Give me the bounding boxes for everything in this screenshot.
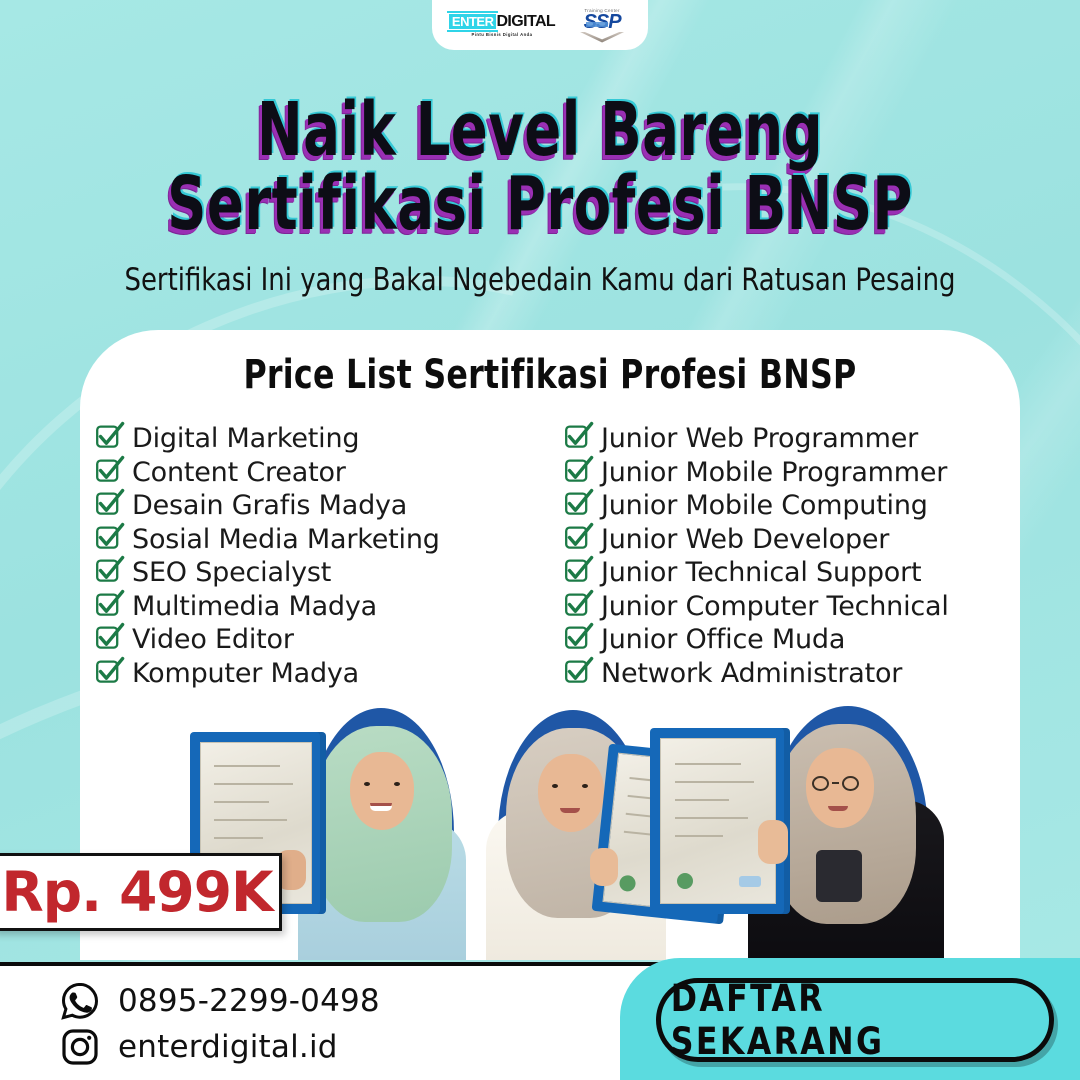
checkmark-icon [94,593,121,620]
poster-canvas: ENTER DIGITAL Pintu Bisnis Digital Anda … [0,0,1080,1080]
whatsapp-contact[interactable]: 0895-2299-0498 [60,978,380,1024]
checkmark-icon [563,526,590,553]
list-item: Komputer Madya [94,657,553,691]
glasses-bridge-3 [832,782,839,784]
list-item-label: Video Editor [132,624,294,655]
eye-right-1 [394,782,400,786]
list-item: Content Creator [94,456,553,490]
checkmark-icon [94,459,121,486]
face-1 [350,752,414,830]
cert-stamp [739,876,761,887]
logo-bar: ENTER DIGITAL Pintu Bisnis Digital Anda … [432,0,648,50]
list-item-label: Sosial Media Marketing [132,524,440,555]
list-item-label: Content Creator [132,457,346,488]
list-item: Junior Web Programmer [563,422,1012,456]
service-list-right: Junior Web Programmer Junior Mobile Prog… [553,422,1012,690]
cta-panel: DAFTAR SEKARANG [620,958,1080,1080]
list-item: Junior Web Developer [563,523,1012,557]
mouth-1 [370,806,392,811]
list-item-label: Junior Technical Support [601,557,921,588]
headline-line-2: Sertifikasi Profesi BNSP [97,170,983,238]
logo-enter-text: ENTER [449,14,497,29]
logo-tagline: Pintu Bisnis Digital Anda [472,32,533,37]
eye-right-2 [582,784,588,788]
contact-block: 0895-2299-0498 enterdigital.id [60,978,380,1070]
list-item: Sosial Media Marketing [94,523,553,557]
card-title: Price List Sertifikasi Profesi BNSP [136,352,963,398]
ssp-accent-bar [586,22,608,27]
list-item: Junior Technical Support [563,556,1012,590]
mouth-2 [560,808,580,813]
checkmark-icon [563,593,590,620]
glasses-right-3 [842,776,859,791]
checkmark-icon [563,492,590,519]
list-item: Junior Mobile Programmer [563,456,1012,490]
cert-line [214,765,280,767]
list-item: Video Editor [94,623,553,657]
headline-line-1: Naik Level Bareng [97,96,983,164]
whatsapp-icon [60,981,100,1021]
glasses-left-3 [812,776,829,791]
lanyard-3 [816,850,862,902]
list-item-label: Junior Office Muda [601,624,845,655]
checkmark-icon [563,626,590,653]
price-list-card: Price List Sertifikasi Profesi BNSP Digi… [80,330,1020,760]
hand-3 [758,820,788,864]
list-item: Desain Grafis Madya [94,489,553,523]
checkmark-icon [563,459,590,486]
price-text: Rp. 499K [1,860,272,924]
cta-label: DAFTAR SEKARANG [671,977,1040,1063]
cert-line [214,783,293,785]
cert-line [214,801,269,803]
cert-line [214,837,262,839]
ssp-chevron-icon [579,32,625,43]
cert-line [675,817,748,819]
headline-block: Naik Level Bareng Sertifikasi Profesi BN… [0,96,1080,238]
ssp-name: SSP [584,14,621,31]
price-badge: Rp. 499K [0,853,282,931]
mouth-3 [828,806,848,811]
checkmark-icon [94,660,121,687]
list-item: Multimedia Madya [94,590,553,624]
whatsapp-number: 0895-2299-0498 [118,983,380,1019]
checkmark-icon [94,559,121,586]
ssp-logo: Training Center SSP [573,8,631,43]
cert-seal [677,873,693,889]
list-item-label: Multimedia Madya [132,591,377,622]
list-item-label: Junior Web Developer [601,524,889,555]
list-item: Junior Office Muda [563,623,1012,657]
face-2 [538,754,604,832]
service-lists: Digital Marketing Content Creator Desain… [80,422,1020,690]
list-item: Digital Marketing [94,422,553,456]
checkmark-icon [563,425,590,452]
checkmark-icon [94,526,121,553]
headline-subtitle: Sertifikasi Ini yang Bakal Ngebedain Kam… [38,262,1042,298]
checkmark-icon [94,425,121,452]
list-item-label: Junior Computer Technical [601,591,949,622]
list-item: SEO Specialyst [94,556,553,590]
list-item: Network Administrator [563,657,1012,691]
eye-left-1 [364,782,370,786]
certificate-3 [660,738,776,904]
checkmark-icon [563,559,590,586]
hand-2 [590,848,618,886]
list-item: Junior Mobile Computing [563,489,1012,523]
daftar-sekarang-button[interactable]: DAFTAR SEKARANG [656,978,1054,1062]
student-photo-3 [640,700,970,960]
list-item-label: Junior Web Programmer [601,423,918,454]
instagram-handle: enterdigital.id [118,1029,338,1065]
checkmark-icon [94,626,121,653]
cert-line [675,763,741,765]
list-item-label: Desain Grafis Madya [132,490,407,521]
cert-seal [619,875,637,893]
cert-line [214,819,287,821]
cert-line [675,799,730,801]
list-item-label: Komputer Madya [132,658,359,689]
cert-line [675,835,723,837]
service-list-left: Digital Marketing Content Creator Desain… [94,422,553,690]
list-item-label: Junior Mobile Programmer [601,457,947,488]
enter-digital-logo: ENTER DIGITAL Pintu Bisnis Digital Anda [449,14,555,37]
list-item-label: SEO Specialyst [132,557,331,588]
checkmark-icon [563,660,590,687]
checkmark-icon [94,492,121,519]
instagram-icon [60,1027,100,1067]
logo-digital-text: DIGITAL [496,14,555,29]
list-item-label: Junior Mobile Computing [601,490,928,521]
cert-line [675,781,755,783]
instagram-contact[interactable]: enterdigital.id [60,1024,380,1070]
eye-left-2 [552,784,558,788]
list-item-label: Digital Marketing [132,423,359,454]
list-item: Junior Computer Technical [563,590,1012,624]
list-item-label: Network Administrator [601,658,902,689]
